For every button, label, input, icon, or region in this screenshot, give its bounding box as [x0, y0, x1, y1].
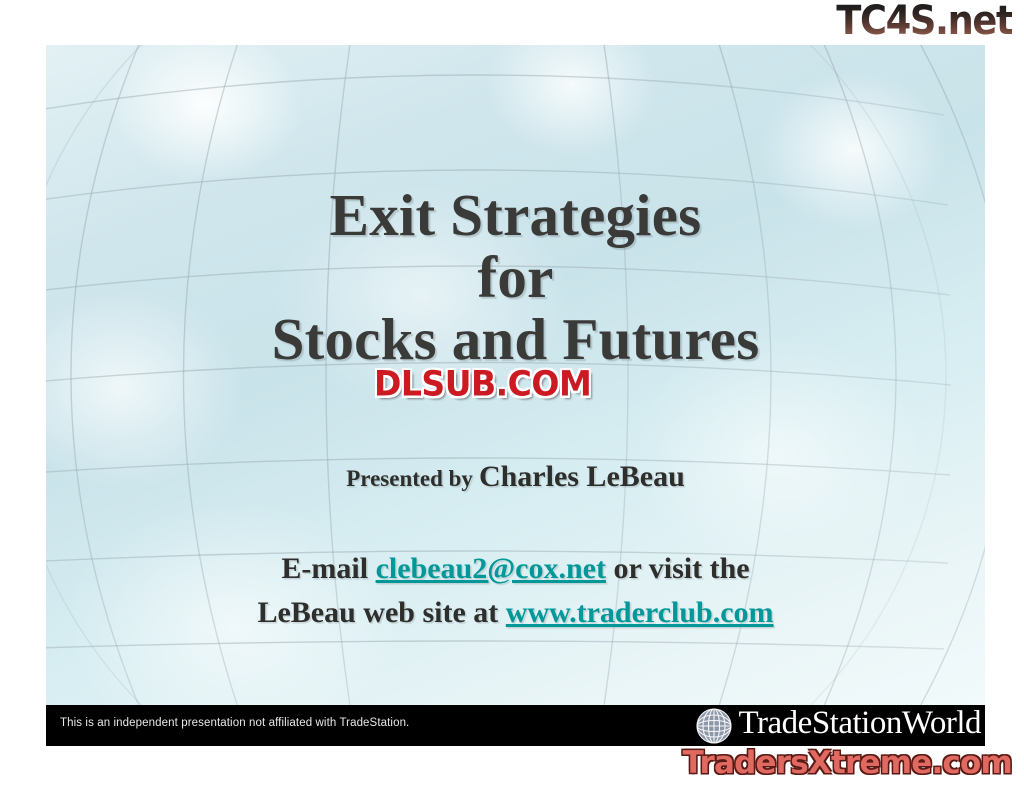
tradestationworld-wordmark: TradeStationWorld: [739, 707, 981, 740]
website-link[interactable]: www.traderclub.com: [506, 596, 774, 629]
watermark-dlsub: DLSUB.COM: [374, 366, 591, 401]
footer-bar: This is an independent presentation not …: [46, 705, 985, 746]
email-link[interactable]: clebeau2@cox.net: [376, 552, 606, 585]
contact-email-line: E-mail clebeau2@cox.net or visit the: [46, 552, 985, 586]
email-suffix-label: or visit the: [613, 552, 749, 585]
globe-icon: [691, 707, 737, 745]
slide-title-block: Exit Strategies for Stocks and Futures: [46, 185, 985, 370]
website-prefix-label: LeBeau web site at: [257, 596, 498, 629]
presenter-line: Presented byCharles LeBeau: [46, 460, 985, 494]
contact-website-line: LeBeau web site at www.traderclub.com: [46, 596, 985, 630]
disclaimer-text: This is an independent presentation not …: [60, 717, 409, 729]
watermark-tradersxtreme: TradersXtreme.com: [683, 748, 1012, 779]
presenter-prefix: Presented by: [346, 466, 473, 491]
email-prefix-label: E-mail: [281, 552, 368, 585]
tradestationworld-logo: TradeStationWorld: [691, 705, 981, 746]
title-line-2: for: [46, 247, 985, 307]
title-line-3: Stocks and Futures: [46, 309, 985, 369]
watermark-tc4s: TC4S.net: [836, 1, 1012, 41]
tsw-name: TradeStationWorld: [739, 705, 981, 741]
presenter-name: Charles LeBeau: [479, 460, 685, 493]
title-line-1: Exit Strategies: [46, 185, 985, 245]
